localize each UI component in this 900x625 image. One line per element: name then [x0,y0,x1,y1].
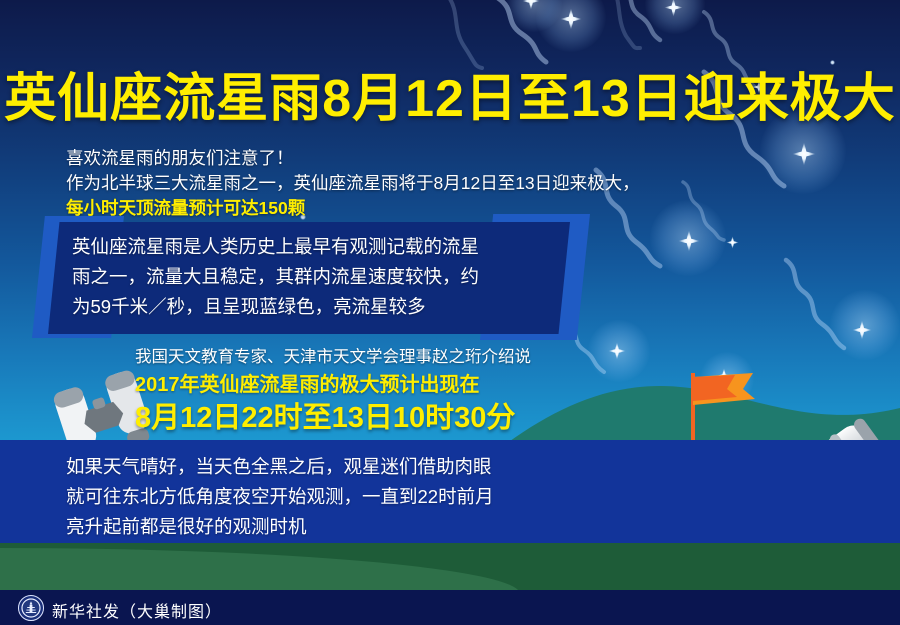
ribbon-line-3: 为59千米／秒，且呈现蓝绿色，亮流星较多 [72,292,562,322]
xinhua-emblem-icon [18,595,44,621]
expert-quote-block: 我国天文教育专家、天津市天文学会理事赵之珩介绍说 2017年英仙座流星雨的极大预… [135,345,531,436]
intro-line-2: 作为北半球三大流星雨之一，英仙座流星雨将于8月12日至13日迎来极大， [66,171,640,196]
page-title: 英仙座流星雨8月12日至13日迎来极大 [0,56,900,131]
bottom-paragraph: 如果天气晴好，当天色全黑之后，观星迷们借助肉眼 就可往东北方低角度夜空开始观测，… [66,452,586,542]
ribbon-line-2: 雨之一，流量大且稳定，其群内流星速度较快，约 [72,262,562,292]
intro-paragraph: 喜欢流星雨的朋友们注意了！ 作为北半球三大流星雨之一，英仙座流星雨将于8月12日… [66,146,640,221]
meteor-streak [782,258,882,350]
expert-highlight-line: 2017年英仙座流星雨的极大预计出现在 [135,371,531,399]
bottom-line-2: 就可往东北方低角度夜空开始观测，一直到22时前月 [66,482,586,512]
bottom-line-1: 如果天气晴好，当天色全黑之后，观星迷们借助肉眼 [66,452,586,482]
ribbon-text: 英仙座流星雨是人类历史上最早有观测记载的流星 雨之一，流量大且稳定，其群内流星速… [72,232,562,322]
footer-credit: 新华社发（大巢制图） [52,598,222,622]
expert-date-line: 8月12日22时至13日10时30分 [135,400,531,436]
expert-intro-line: 我国天文教育专家、天津市天文学会理事赵之珩介绍说 [135,345,531,369]
meteor-streak [680,180,750,242]
ribbon-line-1: 英仙座流星雨是人类历史上最早有观测记载的流星 [72,232,562,262]
ribbon-callout: 英仙座流星雨是人类历史上最早有观测记载的流星 雨之一，流量大且稳定，其群内流星速… [30,222,590,340]
intro-line-1: 喜欢流星雨的朋友们注意了！ [66,146,640,171]
infographic-poster: 英仙座流星雨8月12日至13日迎来极大 喜欢流星雨的朋友们注意了！ 作为北半球三… [0,0,900,625]
meteor-streak [596,0,676,50]
bottom-line-3: 亮升起前都是很好的观测时机 [66,512,586,542]
